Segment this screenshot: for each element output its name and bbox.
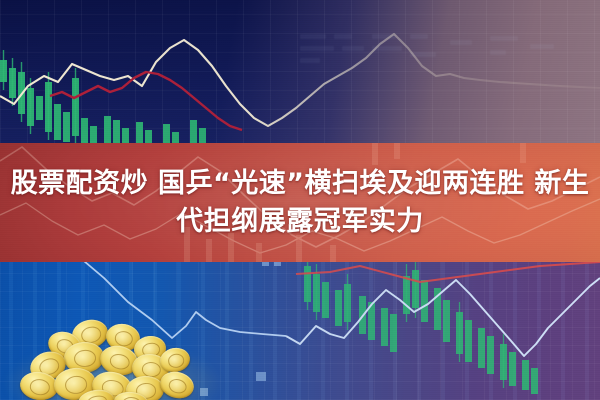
top-cream-trend-line (0, 34, 600, 126)
gold-coin-pile (14, 298, 199, 400)
bottom-red-line (296, 262, 600, 282)
bottom-small-marks (200, 258, 281, 396)
news-thumbnail-image: 股票配资炒 国乒“光速”横扫埃及迎两连胜 新生 代担纲展露冠军实力 (0, 0, 600, 400)
headline-line-2: 代担纲展露冠军实力 (176, 204, 424, 239)
top-chart-panel (0, 0, 600, 148)
headline-line-1: 股票配资炒 国乒“光速”横扫埃及迎两连胜 新生 (11, 166, 590, 201)
top-candlestick-chart (0, 0, 600, 148)
headline-text-block: 股票配资炒 国乒“光速”横扫埃及迎两连胜 新生 代担纲展露冠军实力 (0, 143, 600, 262)
bottom-chart-panel (0, 256, 600, 400)
